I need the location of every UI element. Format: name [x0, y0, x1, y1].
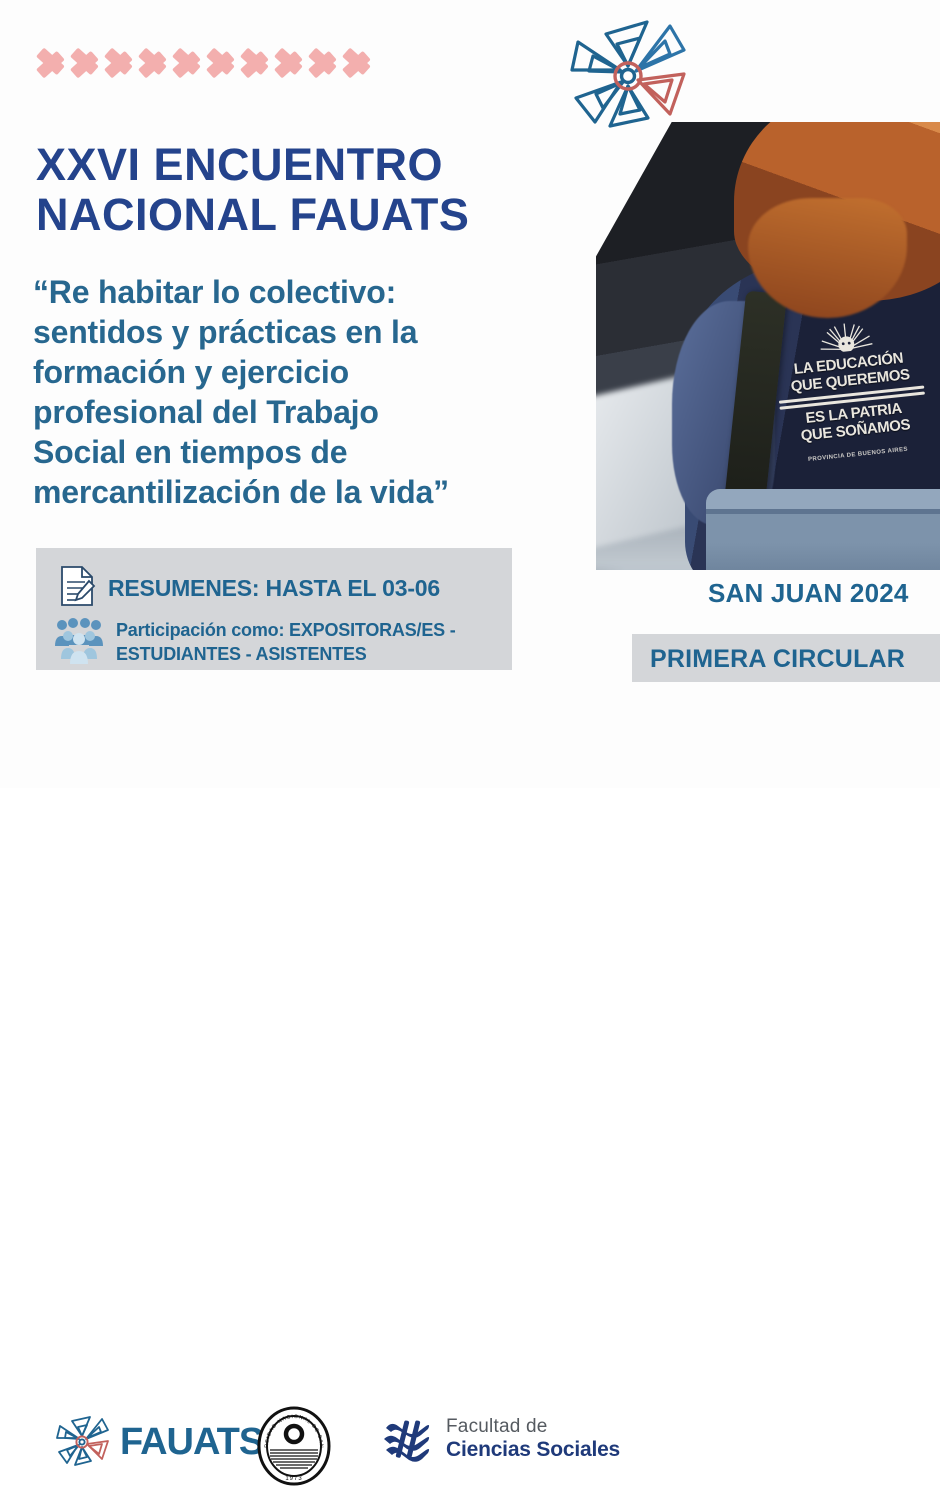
- chevron-icon: [38, 30, 72, 96]
- photo-person-hair: [734, 122, 940, 301]
- sun-icon: [817, 317, 874, 354]
- shirt-print-footer: PROVINCIA DE BUENOS AIRES: [779, 443, 937, 466]
- quote-line: “Re habitar lo colectivo:: [33, 272, 553, 312]
- fcs-wordmark: Facultad de Ciencias Sociales: [446, 1416, 620, 1462]
- participacion-line-2: ESTUDIANTES - ASISTENTES: [116, 644, 367, 664]
- info-row-resumenes: RESUMENES: HASTA EL 03-06: [58, 562, 498, 614]
- chevron-icon: [106, 30, 140, 96]
- fcs-line-1: Facultad de: [446, 1416, 548, 1437]
- chevron-icon: [276, 30, 310, 96]
- photo-background: LA EDUCACIÓN QUE QUEREMOS ES LA PATRIA Q…: [596, 122, 940, 570]
- facultad-ciencias-sociales-logo: Facultad de Ciencias Sociales: [380, 1412, 620, 1466]
- headline-line-2: NACIONAL FAUATS: [36, 190, 556, 240]
- info-panel: RESUMENES: HASTA EL 03-06 P: [36, 548, 512, 670]
- circular-badge-label: PRIMERA CIRCULAR: [650, 645, 905, 674]
- chevron-icon: [208, 30, 242, 96]
- event-theme-quote: “Re habitar lo colectivo: sentidos y prá…: [33, 272, 553, 512]
- quote-line: Social en tiempos de: [33, 432, 553, 472]
- fcs-line-2: Ciencias Sociales: [446, 1438, 620, 1461]
- chevron-icon: [310, 30, 344, 96]
- chevron-icon: [344, 30, 378, 96]
- chevron-icon: [242, 30, 276, 96]
- fauats-logo: FAUATS: [52, 1414, 263, 1470]
- chevron-icon: [140, 30, 174, 96]
- quote-line: formación y ejercicio: [33, 352, 553, 392]
- fauats-pinwheel-icon: [52, 1414, 112, 1470]
- quote-line: sentidos y prácticas en la: [33, 312, 553, 352]
- event-photo: LA EDUCACIÓN QUE QUEREMOS ES LA PATRIA Q…: [596, 122, 940, 570]
- info-row-participacion: Participación como: EXPOSITORAS/ES - EST…: [54, 616, 504, 669]
- people-group-icon: [54, 616, 104, 669]
- chevron-decoration-band: [38, 26, 368, 100]
- quote-line: profesional del Trabajo: [33, 392, 553, 432]
- participacion-label: Participación como: EXPOSITORAS/ES - EST…: [116, 619, 456, 666]
- chevron-icon: [72, 30, 106, 96]
- footer-logos: FAUATS UNIVERSIDAD NACIONAL D: [0, 700, 940, 788]
- quote-line: mercantilización de la vida”: [33, 472, 553, 512]
- participacion-line-1: Participación como: EXPOSITORAS/ES -: [116, 620, 456, 640]
- fcs-mark-icon: [380, 1412, 434, 1466]
- resumenes-label: RESUMENES: HASTA EL 03-06: [108, 575, 440, 602]
- location-year-label: SAN JUAN 2024: [708, 578, 909, 609]
- unsj-seal-logo: UNIVERSIDAD NACIONAL DE SAN JUAN 1973: [256, 1406, 332, 1491]
- page-title: XXVI ENCUENTRO NACIONAL FAUATS: [36, 140, 556, 241]
- chevron-icon: [174, 30, 208, 96]
- unsj-year: 1973: [285, 1476, 302, 1482]
- headline-line-1: XXVI ENCUENTRO: [36, 139, 443, 190]
- fauats-wordmark: FAUATS: [120, 1421, 263, 1464]
- fauats-pinwheel-logo: [548, 14, 708, 132]
- shirt-print-graphic: LA EDUCACIÓN QUE QUEREMOS ES LA PATRIA Q…: [765, 311, 940, 524]
- document-pencil-icon: [58, 564, 96, 613]
